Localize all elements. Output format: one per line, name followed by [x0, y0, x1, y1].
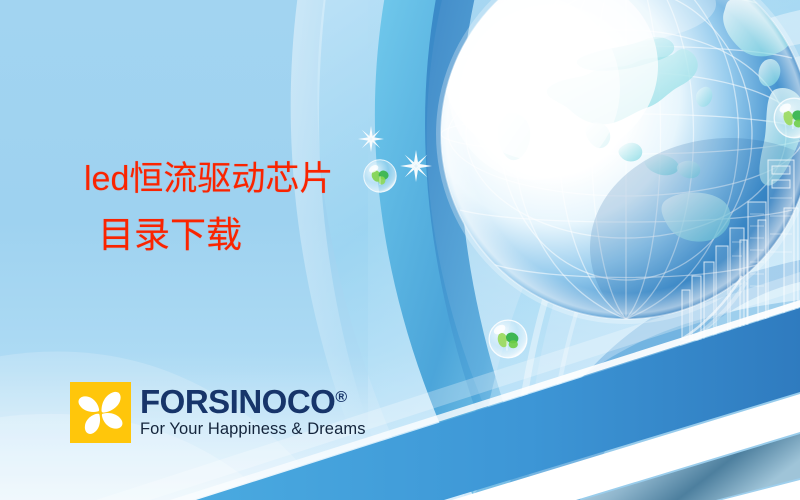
brand-wordmark: FORSINOCO®	[140, 385, 366, 418]
brand-tagline: For Your Happiness & Dreams	[140, 420, 366, 439]
banner-image: led恒流驱动芯片 目录下载 FORSINOCO® For Your Happi…	[0, 0, 800, 500]
headline-latin-text: led	[84, 160, 129, 198]
page-title: led恒流驱动芯片 目录下载	[84, 162, 414, 254]
bubble-with-green-leaf-icon	[772, 96, 800, 140]
four-petal-pinwheel-icon	[70, 382, 131, 443]
headline-line-1: led恒流驱动芯片	[84, 162, 414, 196]
brand-name-text: FORSINOCO	[140, 383, 335, 420]
starburst-sparkle-icon	[358, 126, 384, 152]
headline-chinese-text: 恒流驱动芯片	[129, 159, 333, 199]
brand-text-block: FORSINOCO® For Your Happiness & Dreams	[140, 382, 366, 439]
headline-line-2: 目录下载	[98, 218, 414, 254]
brand-logo: FORSINOCO® For Your Happiness & Dreams	[70, 382, 366, 443]
registered-trademark-icon: ®	[335, 389, 347, 406]
bubble-with-green-leaf-icon	[487, 318, 529, 360]
